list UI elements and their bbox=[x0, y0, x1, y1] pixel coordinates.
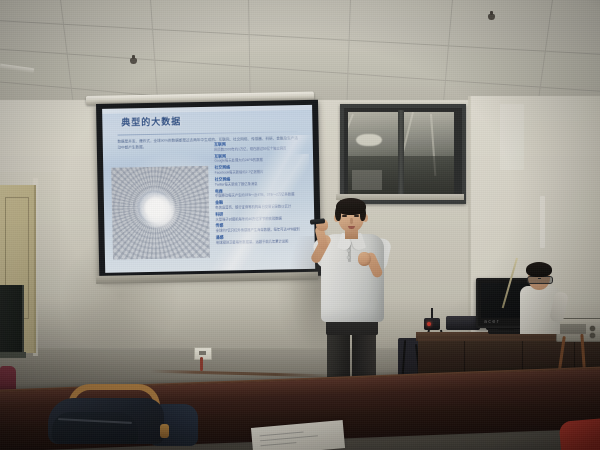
slide-section-body: 网页数2009年约1万亿，现在超过50亿个独立网页 bbox=[214, 146, 306, 152]
presenter-hand-right bbox=[358, 252, 371, 266]
slide-section: 互联网网页数2009年约1万亿，现在超过50亿个独立网页 bbox=[214, 141, 307, 152]
monitor-brand-label: acer bbox=[484, 319, 500, 325]
laptop[interactable] bbox=[446, 316, 480, 330]
slide-section: 金融电信运营商、银行证券等机构每日交易记录数以亿计 bbox=[215, 199, 308, 210]
power-cord bbox=[200, 357, 203, 371]
sprinkler-head-icon bbox=[488, 14, 495, 20]
slide-section-body: Facebook每天新增约2.7亿张照片 bbox=[215, 169, 307, 175]
eyeglasses-icon bbox=[527, 276, 553, 284]
presenter-eye-left bbox=[342, 215, 347, 217]
wall-power-outlet[interactable] bbox=[194, 347, 212, 360]
power-led-icon bbox=[427, 322, 431, 326]
amplifier-faceplate bbox=[560, 324, 586, 334]
red-foreground-object bbox=[559, 418, 600, 450]
slide-section-body: 中国移动每天产生约3TB～近4TB，3TB～2万亿条数据 bbox=[215, 192, 307, 198]
slide-graphic-binary-sphere bbox=[112, 166, 210, 260]
window-pane-right bbox=[404, 112, 454, 196]
sprinkler-head-icon bbox=[130, 58, 137, 64]
projector-hotspot bbox=[141, 194, 178, 230]
slide-section-body: 全球约7亿只红外传感器产生海量数据，每年可达4PB级别 bbox=[216, 227, 308, 233]
chalkboard-edge bbox=[0, 285, 24, 355]
window-pane-left bbox=[348, 112, 399, 196]
slide-section: 传感全球约7亿只红外传感器产生海量数据，每年可达4PB级别 bbox=[216, 222, 309, 233]
presenter-nose bbox=[350, 218, 353, 224]
slide-section: 互联网Google每天处理大约24PB的数据 bbox=[214, 153, 307, 164]
slide-title: 典型的大数据 bbox=[121, 115, 181, 129]
desktop-microphone[interactable] bbox=[424, 318, 440, 330]
backpack-front-pocket[interactable] bbox=[52, 412, 138, 444]
amplifier-knob[interactable] bbox=[590, 326, 595, 331]
chalk-tray bbox=[0, 352, 26, 358]
slide-section: 电商中国移动每天产生约3TB～近4TB，3TB～2万亿条数据 bbox=[215, 188, 308, 199]
backpack-leather-tab bbox=[160, 424, 169, 438]
amplifier-knob[interactable] bbox=[590, 333, 595, 338]
reflected-light-fixture-icon bbox=[356, 134, 382, 146]
shirt-button bbox=[347, 249, 350, 252]
slide-section-body: 电信运营商、银行证券等机构每日交易记录数以亿计 bbox=[215, 204, 307, 210]
interior-window bbox=[340, 104, 466, 204]
presenter-eye-right bbox=[354, 215, 359, 217]
presenter-torso-polo-shirt bbox=[321, 234, 384, 322]
presentation-slide: 典型的大数据 数据是并发、爆炸式，全球90%的数据都是过去两年中生成的。互联网、… bbox=[102, 105, 315, 273]
slide-section-body: Twitter每天新增了数亿条消息 bbox=[215, 181, 307, 187]
slide-section: 科研大型强子对撞机每年约40万亿字节的实验数据 bbox=[215, 211, 308, 222]
window-mullion bbox=[398, 110, 404, 198]
shirt-button bbox=[347, 256, 350, 259]
photo-scene: 典型的大数据 数据是并发、爆炸式，全球90%的数据都是过去两年中生成的。互联网、… bbox=[0, 0, 600, 450]
slide-section: 社交网络Twitter每天新增了数亿条消息 bbox=[215, 176, 308, 187]
slide-section-body: Google每天处理大约24PB的数据 bbox=[214, 157, 306, 163]
slide-section: 社交网络Facebook每天新增约2.7亿张照片 bbox=[215, 164, 308, 175]
assistant-hair bbox=[526, 262, 552, 277]
slide-section-body: 大型强子对撞机每年约40万亿字节的实验数据 bbox=[215, 215, 307, 221]
wall-patch bbox=[500, 104, 524, 170]
wall-light-streak bbox=[540, 196, 545, 248]
slide-bullet-column: 互联网网页数2009年约1万亿，现在超过50亿个独立网页 互联网Google每天… bbox=[214, 141, 308, 247]
presenter-hair bbox=[336, 198, 366, 215]
